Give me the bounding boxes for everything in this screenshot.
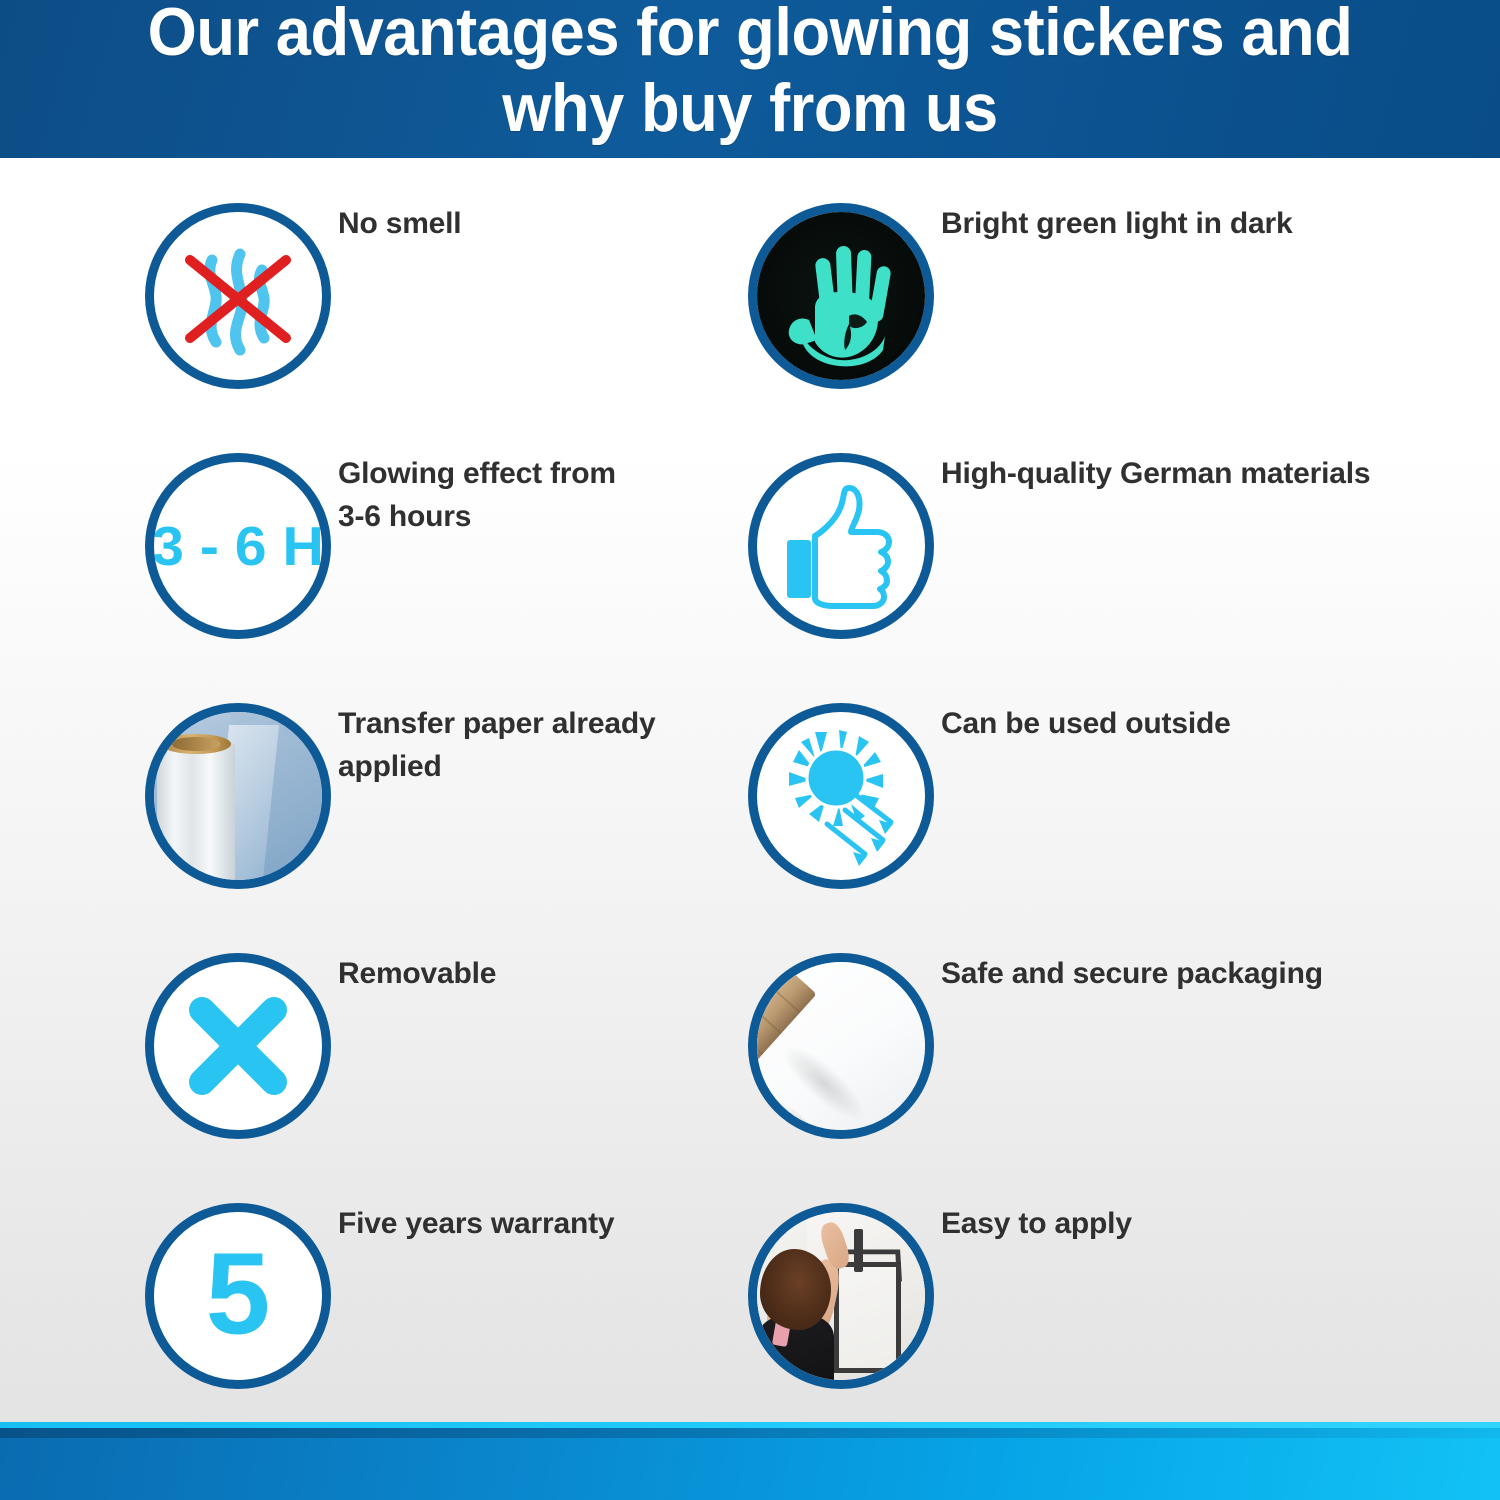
footer-shadow-band — [0, 1428, 1500, 1438]
feature-label: Can be used outside — [941, 702, 1500, 745]
thumbs-up-shape — [757, 462, 925, 630]
removable-icon — [145, 953, 331, 1139]
feature-row: 3 - 6 H Glowing effect from 3-6 hours Hi… — [0, 408, 1500, 658]
features-grid: No smell — [0, 158, 1500, 1420]
feature-item-packaging: Safe and secure packaging — [748, 908, 1448, 1158]
sun-outside-icon — [748, 703, 934, 889]
feature-row: No smell — [0, 158, 1500, 408]
transfer-paper-icon — [145, 703, 331, 889]
mailing-tube-photo — [757, 962, 925, 1130]
glow-duration-text: 3 - 6 H — [152, 514, 324, 578]
feature-label: High-quality German materials — [941, 452, 1500, 495]
red-cross-out-icon — [154, 212, 322, 380]
warranty-number: 5 — [206, 1236, 271, 1352]
handprint-shape — [757, 212, 925, 380]
feature-label: Bright green light in dark — [941, 202, 1500, 245]
feature-item-easy-apply: Easy to apply — [748, 1158, 1448, 1408]
feature-label: Safe and secure packaging — [941, 952, 1500, 995]
no-smell-icon — [145, 203, 331, 389]
glowing-hand-icon — [748, 203, 934, 389]
feature-item-no-smell: No smell — [145, 158, 735, 408]
feature-item-removable: Removable — [145, 908, 735, 1158]
header-inner: Our advantages for glowing stickers and … — [0, 0, 1500, 146]
feature-item-glow-duration: 3 - 6 H Glowing effect from 3-6 hours — [145, 408, 735, 658]
page-header: Our advantages for glowing stickers and … — [0, 0, 1500, 158]
feature-row: Removable — [0, 908, 1500, 1158]
woman-applying-decal-photo — [757, 1212, 925, 1380]
feature-item-german-materials: High-quality German materials — [748, 408, 1448, 658]
feature-row: 5 Five years warranty — [0, 1158, 1500, 1408]
feature-row: Transfer paper already applied — [0, 658, 1500, 908]
feature-item-transfer-paper: Transfer paper already applied — [145, 658, 735, 908]
transfer-roll-photo — [154, 712, 322, 880]
warranty-icon: 5 — [145, 1203, 331, 1389]
feature-item-glow-dark: Bright green light in dark — [748, 158, 1448, 408]
page-title: Our advantages for glowing stickers and … — [69, 0, 1431, 146]
feature-label: Easy to apply — [941, 1202, 1500, 1245]
feature-item-warranty: 5 Five years warranty — [145, 1158, 735, 1408]
page-footer — [0, 1422, 1500, 1500]
feature-item-outside-use: Can be used outside — [748, 658, 1448, 908]
sun-with-rays-shape — [757, 712, 925, 880]
packaging-tube-icon — [748, 953, 934, 1139]
thumbs-up-icon — [748, 453, 934, 639]
glow-duration-icon: 3 - 6 H — [145, 453, 331, 639]
easy-to-apply-icon — [748, 1203, 934, 1389]
cross-mark-icon — [154, 962, 322, 1130]
